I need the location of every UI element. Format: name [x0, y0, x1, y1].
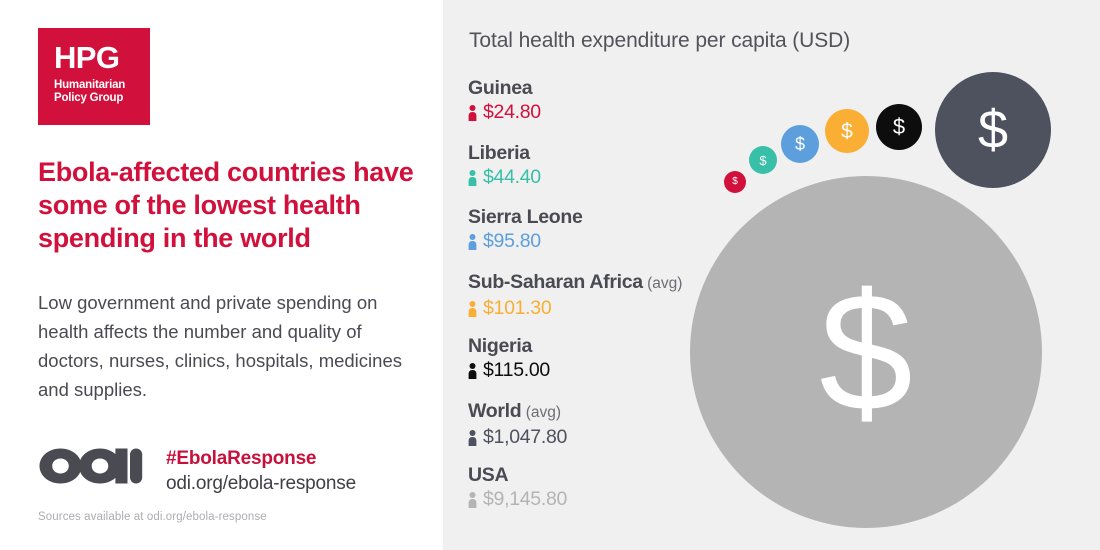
bubble-world: $: [935, 72, 1051, 188]
person-icon: [468, 430, 477, 446]
legend-country-name: Sierra Leone: [468, 205, 728, 229]
legend-value: $24.80: [483, 101, 541, 123]
infographic-canvas: HPG HumanitarianPolicy Group Ebola-affec…: [0, 0, 1100, 550]
headline: Ebola-affected countries have some of th…: [38, 156, 418, 255]
bubble-sub-saharan-africa: $: [825, 109, 869, 153]
person-icon: [468, 492, 477, 508]
legend-value: $9,145.80: [483, 488, 567, 510]
hashtag: #EbolaResponse: [166, 446, 426, 471]
legend-value-line: $101.30: [468, 297, 728, 319]
legend-value-line: $44.40: [468, 166, 728, 188]
right-panel: Total health expenditure per capita (USD…: [443, 0, 1100, 550]
hpg-logo-subtitle: HumanitarianPolicy Group: [54, 79, 146, 105]
legend-value-line: $115.00: [468, 359, 728, 381]
legend-row: World (avg)$1,047.80: [468, 399, 728, 464]
chart-legend: Guinea$24.80Liberia$44.40Sierra Leone$95…: [468, 76, 728, 528]
dollar-sign-icon: $: [841, 121, 853, 142]
person-icon: [468, 105, 477, 121]
legend-value: $44.40: [483, 166, 541, 188]
dollar-sign-icon: $: [893, 116, 905, 138]
legend-row: USA$9,145.80: [468, 463, 728, 528]
person-icon: [468, 363, 477, 379]
bubble-nigeria: $: [876, 104, 922, 150]
legend-row: Nigeria$115.00: [468, 334, 728, 399]
legend-value: $101.30: [483, 297, 551, 319]
social-block: #EbolaResponse odi.org/ebola-response: [166, 446, 426, 496]
body-copy: Low government and private spending on h…: [38, 288, 420, 404]
legend-value-line: $24.80: [468, 101, 728, 123]
bubble-sierra-leone: $: [781, 125, 819, 163]
left-panel: HPG HumanitarianPolicy Group Ebola-affec…: [0, 0, 443, 550]
bubble-usa: $: [690, 176, 1042, 528]
legend-country-name: Guinea: [468, 76, 728, 100]
legend-country-name: Sub-Saharan Africa (avg): [468, 270, 728, 296]
dollar-sign-icon: $: [759, 154, 766, 167]
bubble-liberia: $: [749, 146, 777, 174]
legend-value: $115.00: [483, 359, 550, 381]
person-icon: [468, 170, 477, 186]
legend-country-name: Liberia: [468, 141, 728, 165]
legend-row: Sub-Saharan Africa (avg)$101.30: [468, 270, 728, 335]
legend-value-line: $1,047.80: [468, 426, 728, 448]
legend-value-line: $95.80: [468, 230, 728, 252]
legend-row: Sierra Leone$95.80: [468, 205, 728, 270]
odi-logo: [38, 442, 143, 490]
legend-country-name: USA: [468, 463, 728, 487]
person-icon: [468, 301, 477, 317]
legend-qualifier: (avg): [643, 275, 683, 292]
website-url[interactable]: odi.org/ebola-response: [166, 471, 426, 496]
legend-value: $1,047.80: [483, 426, 567, 448]
legend-row: Liberia$44.40: [468, 141, 728, 206]
odi-logo-icon: [38, 442, 143, 490]
dollar-sign-icon: $: [978, 103, 1008, 157]
dollar-sign-icon: $: [795, 135, 805, 153]
legend-country-name: World (avg): [468, 399, 728, 425]
legend-value: $95.80: [483, 230, 541, 252]
hpg-logo-mark: HPG: [54, 42, 119, 73]
legend-country-name: Nigeria: [468, 334, 728, 358]
dollar-sign-icon: $: [732, 177, 738, 187]
legend-row: Guinea$24.80: [468, 76, 728, 141]
sources-note: Sources available at odi.org/ebola-respo…: [38, 511, 267, 523]
dollar-sign-icon: $: [819, 268, 912, 436]
hpg-logo: HPG HumanitarianPolicy Group: [38, 28, 150, 125]
person-icon: [468, 234, 477, 250]
legend-qualifier: (avg): [521, 404, 561, 421]
legend-value-line: $9,145.80: [468, 488, 728, 510]
